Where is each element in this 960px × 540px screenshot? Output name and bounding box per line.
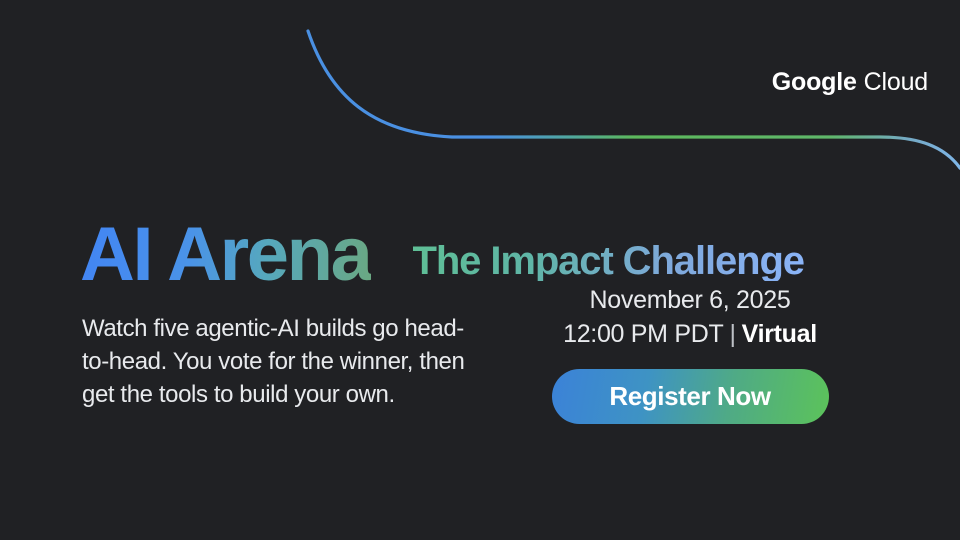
- meta-separator: |: [729, 320, 735, 348]
- headline-row: AI Arena The Impact Challenge: [80, 166, 930, 246]
- event-details: November 6, 2025 12:00 PM PDT|Virtual Re…: [500, 284, 880, 424]
- logo-brand: Google: [772, 68, 857, 96]
- google-cloud-logo: GoogleCloud: [772, 68, 928, 97]
- event-time: 12:00 PM PDT: [563, 320, 723, 348]
- register-now-button[interactable]: Register Now: [552, 369, 829, 424]
- event-date: November 6, 2025: [500, 284, 880, 316]
- event-promo-banner: GoogleCloud AI Arena The Impact Challeng…: [0, 0, 960, 540]
- page-title: AI Arena: [80, 217, 371, 293]
- cta-container: Register Now: [500, 369, 880, 424]
- page-subtitle: The Impact Challenge: [413, 241, 804, 281]
- description-text: Watch five agentic-AI builds go head-to-…: [82, 312, 474, 411]
- event-format-badge: Virtual: [742, 320, 817, 348]
- logo-product: Cloud: [864, 68, 928, 96]
- event-time-format: 12:00 PM PDT|Virtual: [500, 318, 880, 350]
